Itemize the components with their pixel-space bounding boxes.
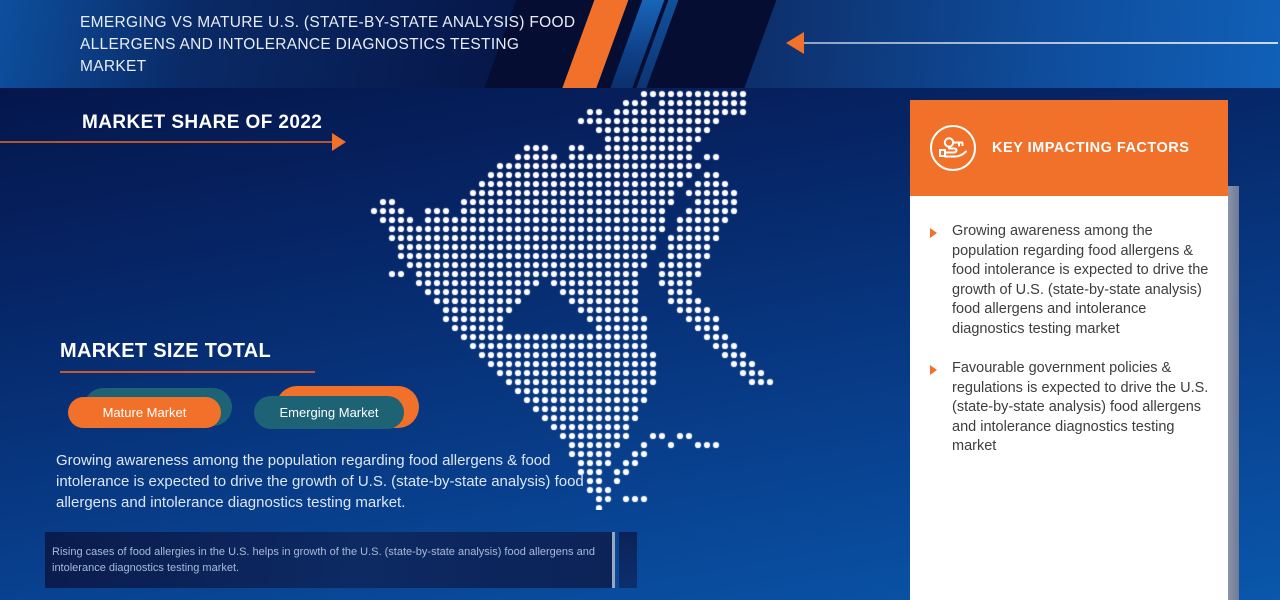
list-item: Growing awareness among the population r… [928, 222, 1214, 339]
market-share-heading: MARKET SHARE OF 2022 [82, 112, 322, 134]
infographic-root: EMERGING VS MATURE U.S. (STATE-BY-STATE … [0, 0, 1280, 600]
key-impacting-factors-title: KEY IMPACTING FACTORS [992, 140, 1189, 156]
header-arrow-line [800, 42, 1278, 44]
footer-accent-bar [612, 532, 615, 588]
market-size-underline [60, 371, 315, 373]
list-item: Favourable government policies & regulat… [928, 359, 1214, 457]
north-america-dot-map [370, 90, 820, 510]
legend-mature-market[interactable]: Mature Market [68, 397, 221, 428]
arrow-left-icon [786, 32, 804, 54]
page-title: EMERGING VS MATURE U.S. (STATE-BY-STATE … [80, 12, 580, 78]
legend-emerging-market-label: Emerging Market [280, 405, 379, 420]
key-impacting-factors-list: Growing awareness among the population r… [928, 222, 1214, 477]
triangle-bullet-icon [930, 228, 937, 238]
market-share-rule [0, 141, 334, 143]
legend-emerging-market[interactable]: Emerging Market [254, 396, 404, 429]
list-item-text: Growing awareness among the population r… [952, 223, 1208, 337]
footer-end-block [619, 532, 637, 588]
list-item-text: Favourable government policies & regulat… [952, 360, 1208, 454]
footer-note-text: Rising cases of food allergies in the U.… [52, 544, 597, 576]
right-panel-shadow [1228, 186, 1239, 600]
market-size-heading: MARKET SIZE TOTAL [60, 340, 271, 363]
legend-mature-market-label: Mature Market [103, 405, 187, 420]
arrow-right-icon [332, 133, 346, 151]
key-impacting-factors-header: KEY IMPACTING FACTORS [910, 100, 1228, 196]
triangle-bullet-icon [930, 365, 937, 375]
hand-holding-key-icon [928, 123, 978, 173]
market-size-paragraph: Growing awareness among the population r… [56, 450, 601, 513]
